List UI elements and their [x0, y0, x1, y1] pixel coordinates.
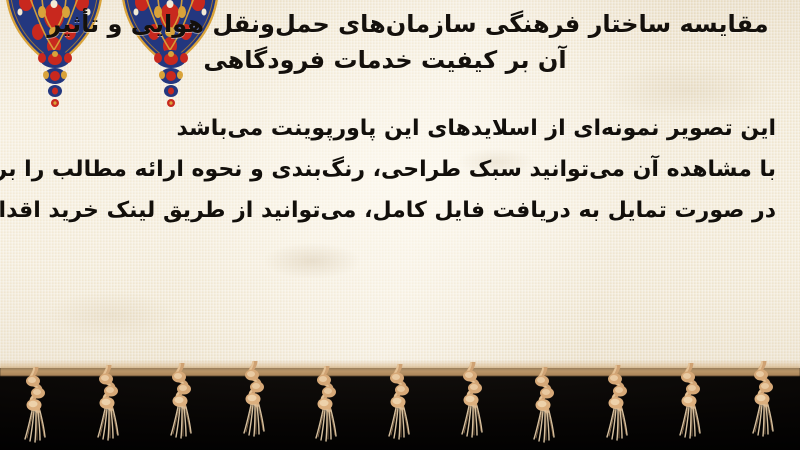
slide-body-line-1: این تصویر نمونه‌ای از اسلایدهای این پاور… — [24, 108, 776, 149]
carpet-selvedge-edge — [0, 360, 800, 376]
slide-title-line-2: آن بر کیفیت خدمات فرودگاهی — [38, 42, 778, 78]
slide-body-line-2: با مشاهده آن می‌توانید سبک طراحی، رنگ‌بن… — [24, 149, 776, 190]
slide-title-line-1: مقایسه ساختار فرهنگی سازمان‌های حمل‌ونقل… — [38, 6, 778, 42]
slide-title: مقایسه ساختار فرهنگی سازمان‌های حمل‌ونقل… — [38, 6, 778, 78]
slide-body-line-3: در صورت تمایل به دریافت فایل کامل، می‌تو… — [24, 190, 776, 231]
black-bottom-band — [0, 368, 800, 450]
presentation-slide: مقایسه ساختار فرهنگی سازمان‌های حمل‌ونقل… — [0, 0, 800, 450]
slide-body-text: این تصویر نمونه‌ای از اسلایدهای این پاور… — [24, 108, 776, 231]
